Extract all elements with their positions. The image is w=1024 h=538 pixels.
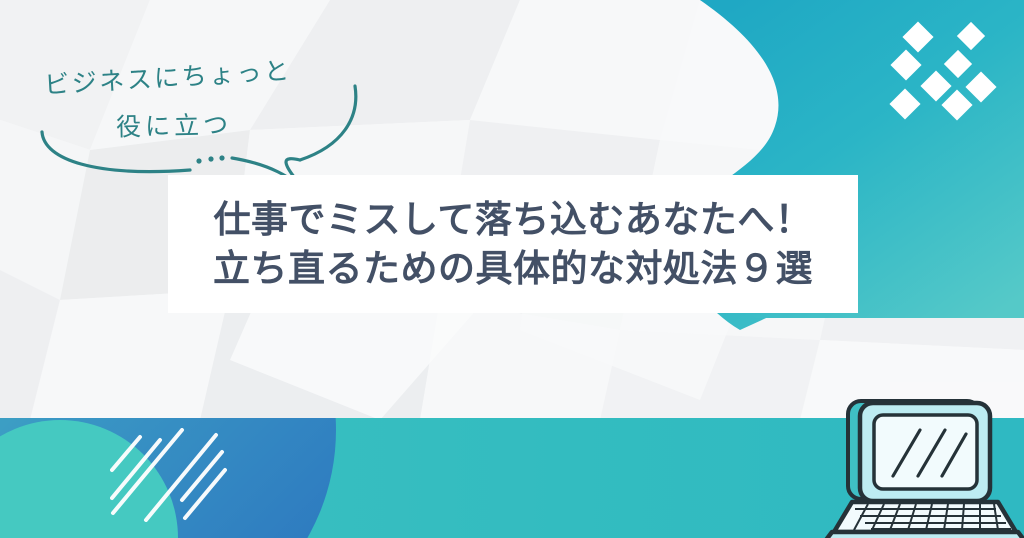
laptop-front-lip (826, 532, 1024, 538)
banner-canvas: ビジネスにちょっと 役に立つ 仕事でミスして落ち込むあなたへ！ 立ち直るための具… (0, 0, 1024, 538)
title-line-2: 立ち直るための具体的な対処法９選 (213, 244, 813, 293)
title-plate: 仕事でミスして落ち込むあなたへ！ 立ち直るための具体的な対処法９選 (168, 175, 858, 313)
title-line-1: 仕事でミスして落ち込むあなたへ！ (214, 195, 813, 244)
laptop-screen (874, 415, 977, 489)
